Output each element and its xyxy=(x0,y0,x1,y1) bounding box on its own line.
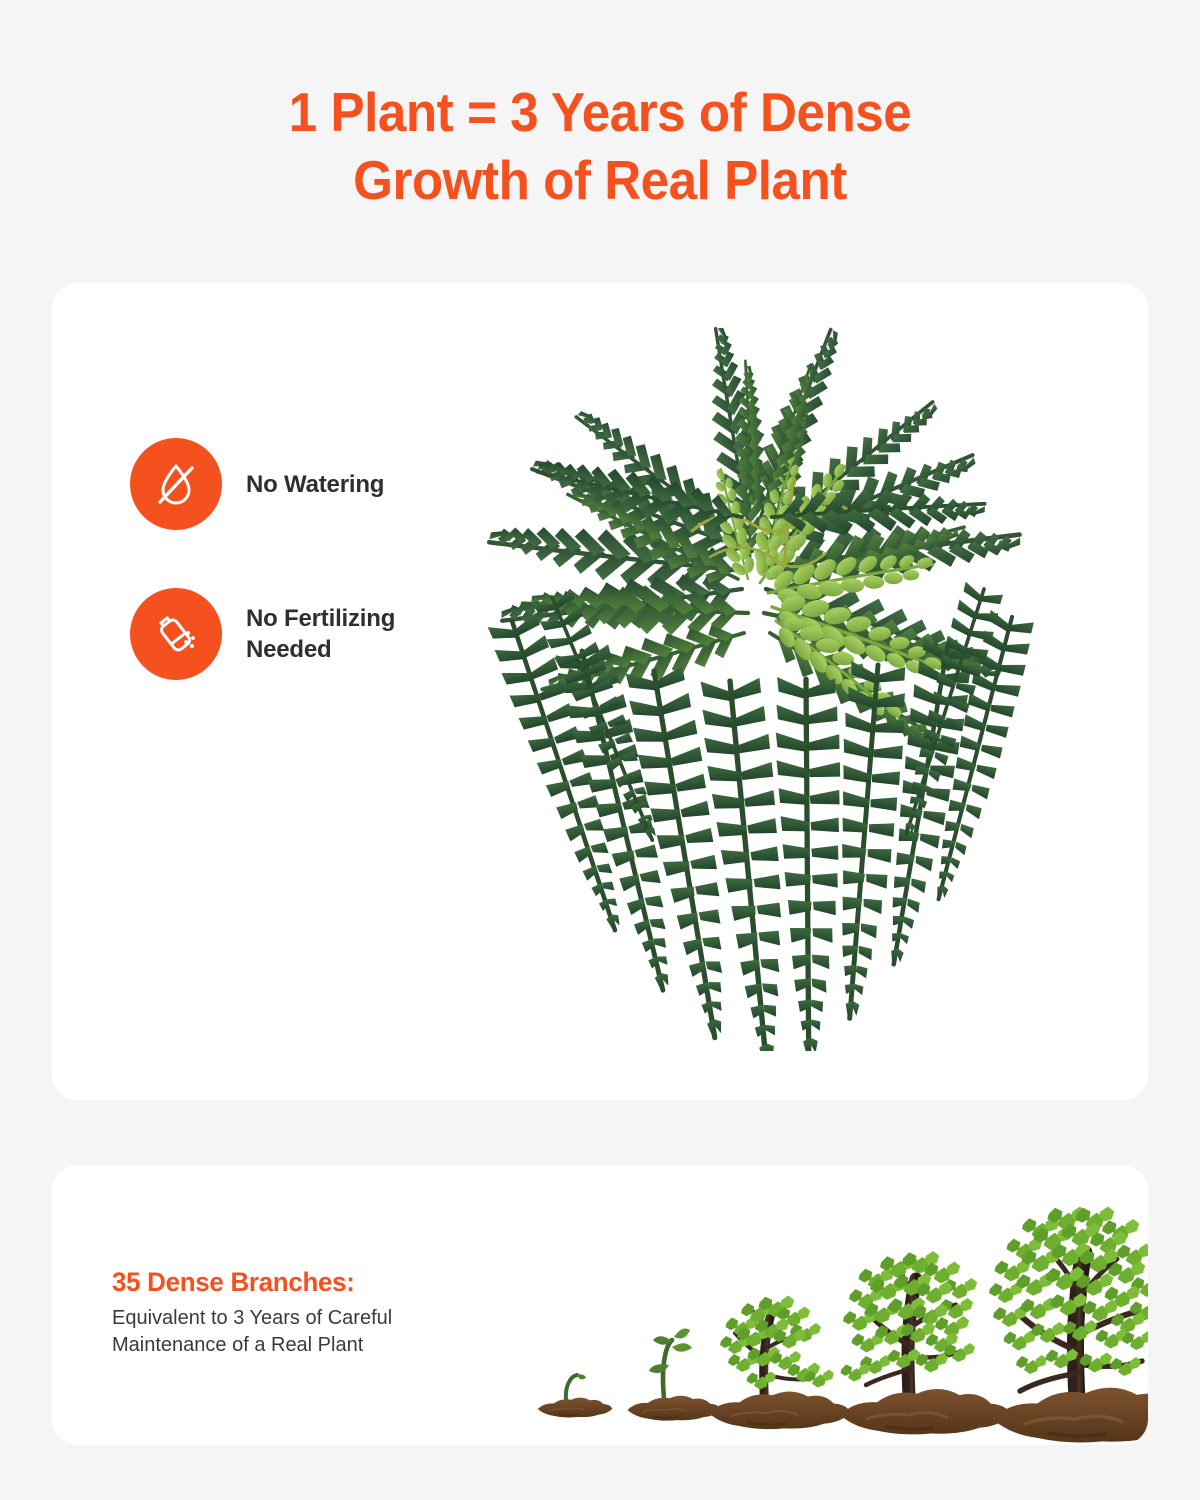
branches-text-block: 35 Dense Branches: Equivalent to 3 Years… xyxy=(112,1265,512,1359)
feature-no-fertilizing: No Fertilizing Needed xyxy=(130,588,510,680)
branches-headline: 35 Dense Branches: xyxy=(112,1265,496,1299)
no-fertilizing-icon xyxy=(130,588,222,680)
page-title: 1 Plant = 3 Years of Dense Growth of Rea… xyxy=(42,78,1158,214)
feature-label-line-1: No Watering xyxy=(246,471,384,498)
feature-label-no-fertilizing: No Fertilizing Needed xyxy=(246,603,395,665)
feature-no-watering: No Watering xyxy=(130,438,510,530)
branches-subtext-line-2: Maintenance of a Real Plant xyxy=(112,1332,512,1359)
feature-label-no-watering: No Watering xyxy=(246,469,384,500)
branches-subtext: Equivalent to 3 Years of Careful Mainten… xyxy=(112,1305,512,1359)
page-title-line-2: Growth of Real Plant xyxy=(42,146,1158,214)
feature-label-line-2: Needed xyxy=(246,636,332,663)
infographic-page: 1 Plant = 3 Years of Dense Growth of Rea… xyxy=(0,0,1200,1500)
feature-label-line-1: No Fertilizing xyxy=(246,605,395,632)
page-title-line-1: 1 Plant = 3 Years of Dense xyxy=(42,78,1158,146)
hero-card: No Watering xyxy=(52,283,1148,1100)
feature-list: No Watering xyxy=(130,438,510,738)
tree-growth-stages-image xyxy=(522,1175,1148,1445)
branches-subtext-line-1: Equivalent to 3 Years of Careful xyxy=(112,1305,512,1332)
branches-card: 35 Dense Branches: Equivalent to 3 Years… xyxy=(52,1165,1148,1445)
no-watering-icon xyxy=(130,438,222,530)
